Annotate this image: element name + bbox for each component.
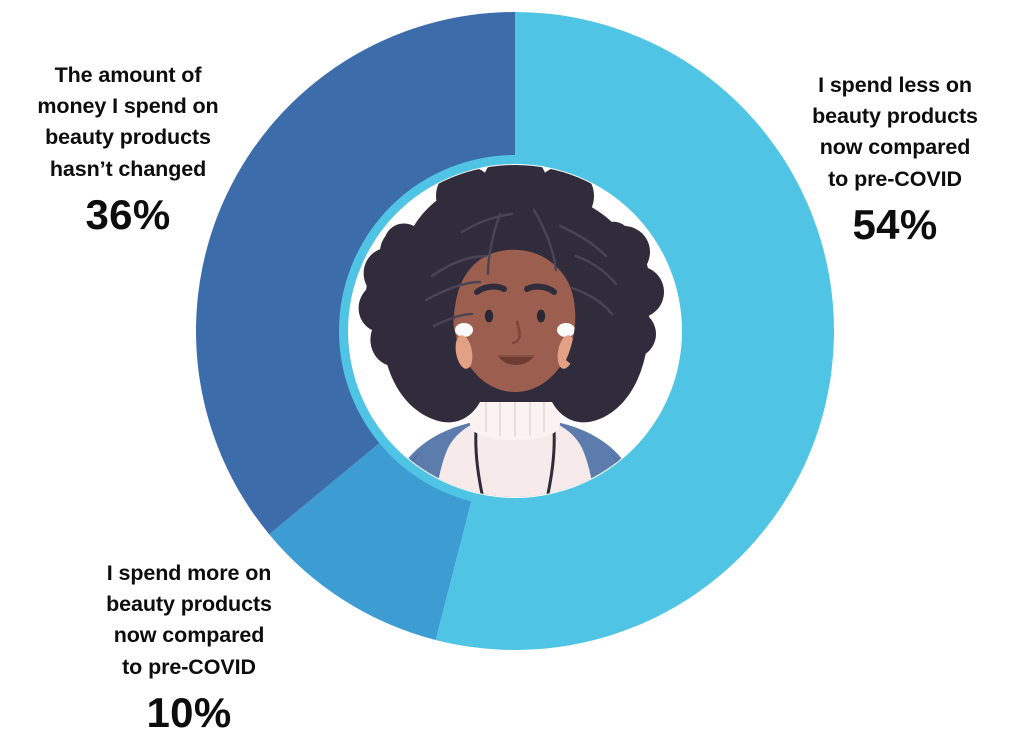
hair-puff-7: [612, 266, 664, 318]
label-less-text: I spend less on beauty products now comp…: [780, 70, 1010, 195]
label-more-line-2: beauty products: [58, 589, 320, 620]
label-less-line-1: I spend less on: [780, 70, 1010, 101]
label-unchanged-line-1: The amount of: [8, 60, 248, 91]
label-less-line-4: to pre-COVID: [780, 164, 1010, 195]
earring-stud-left: [455, 323, 473, 337]
label-less-line-2: beauty products: [780, 101, 1010, 132]
hair-puff-2: [366, 266, 418, 318]
label-less-percent: 54%: [780, 199, 1010, 252]
label-more-line-4: to pre-COVID: [58, 652, 320, 683]
label-more-line-1: I spend more on: [58, 558, 320, 589]
label-more-percent: 10%: [58, 687, 320, 740]
label-unchanged: The amount of money I spend on beauty pr…: [8, 60, 248, 241]
eye-right: [537, 310, 545, 323]
label-less: I spend less on beauty products now comp…: [780, 70, 1010, 251]
label-unchanged-text: The amount of money I spend on beauty pr…: [8, 60, 248, 185]
label-more: I spend more on beauty products now comp…: [58, 558, 320, 739]
label-more-text: I spend more on beauty products now comp…: [58, 558, 320, 683]
donut-chart-infographic: The amount of money I spend on beauty pr…: [0, 0, 1024, 743]
label-less-line-3: now compared: [780, 132, 1010, 163]
label-more-line-3: now compared: [58, 620, 320, 651]
earring-stud-right: [557, 323, 575, 337]
label-unchanged-line-4: hasn’t changed: [8, 154, 248, 185]
eye-left: [485, 310, 493, 323]
hair-puff-5: [429, 371, 467, 409]
label-unchanged-line-2: money I spend on: [8, 91, 248, 122]
label-unchanged-line-3: beauty products: [8, 122, 248, 153]
hair-puff-10: [563, 371, 601, 409]
label-unchanged-percent: 36%: [8, 189, 248, 242]
